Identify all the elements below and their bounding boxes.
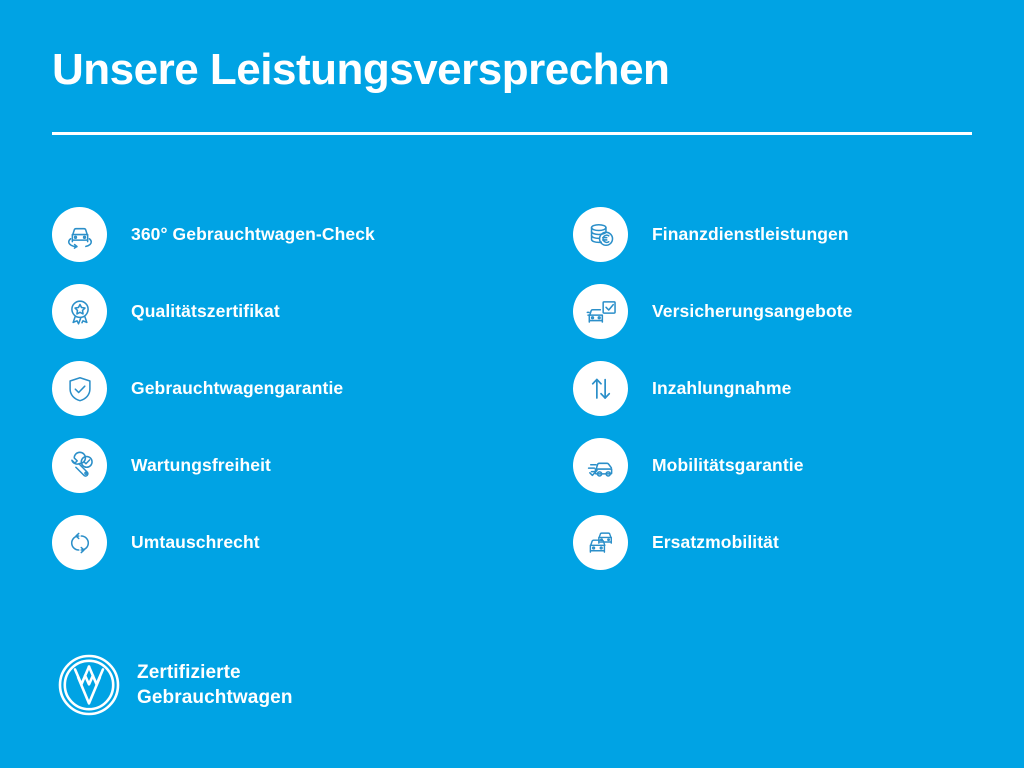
benefit-label: Ersatzmobilität — [652, 532, 779, 553]
benefit-item[interactable]: Mobilitätsgarantie — [573, 427, 1024, 504]
two-cars-icon — [573, 515, 628, 570]
poster-root: Unsere Leistungsversprechen — [0, 0, 1024, 768]
coins-euro-icon — [573, 207, 628, 262]
benefit-item[interactable]: Ersatzmobilität — [573, 504, 1024, 581]
car-insurance-document-icon — [573, 284, 628, 339]
footer-text: Zertifizierte Gebrauchtwagen — [137, 660, 293, 710]
header-divider — [52, 132, 972, 135]
benefit-label: Versicherungsangebote — [652, 301, 853, 322]
volkswagen-logo-icon — [57, 653, 121, 717]
car-speed-lines-icon — [573, 438, 628, 493]
benefit-item[interactable]: Finanzdienstleistungen — [573, 196, 1024, 273]
benefit-label: Mobilitätsgarantie — [652, 455, 804, 476]
footer-line-1: Zertifizierte — [137, 660, 293, 685]
footer-line-2: Gebrauchtwagen — [137, 685, 293, 710]
benefit-item[interactable]: Inzahlungnahme — [573, 350, 1024, 427]
page-title: Unsere Leistungsversprechen — [52, 47, 972, 93]
benefit-label: Finanzdienstleistungen — [652, 224, 849, 245]
benefits-right-column: Finanzdienstleistungen Versicheru — [0, 196, 1024, 581]
benefit-label: Inzahlungnahme — [652, 378, 791, 399]
header: Unsere Leistungsversprechen — [52, 47, 972, 93]
footer-logo-lockup: Zertifizierte Gebrauchtwagen — [57, 653, 293, 717]
up-down-arrows-icon — [573, 361, 628, 416]
benefit-item[interactable]: Versicherungsangebote — [573, 273, 1024, 350]
benefits-grid: 360° Gebrauchtwagen-Check Qualitätszerti… — [0, 196, 1024, 581]
